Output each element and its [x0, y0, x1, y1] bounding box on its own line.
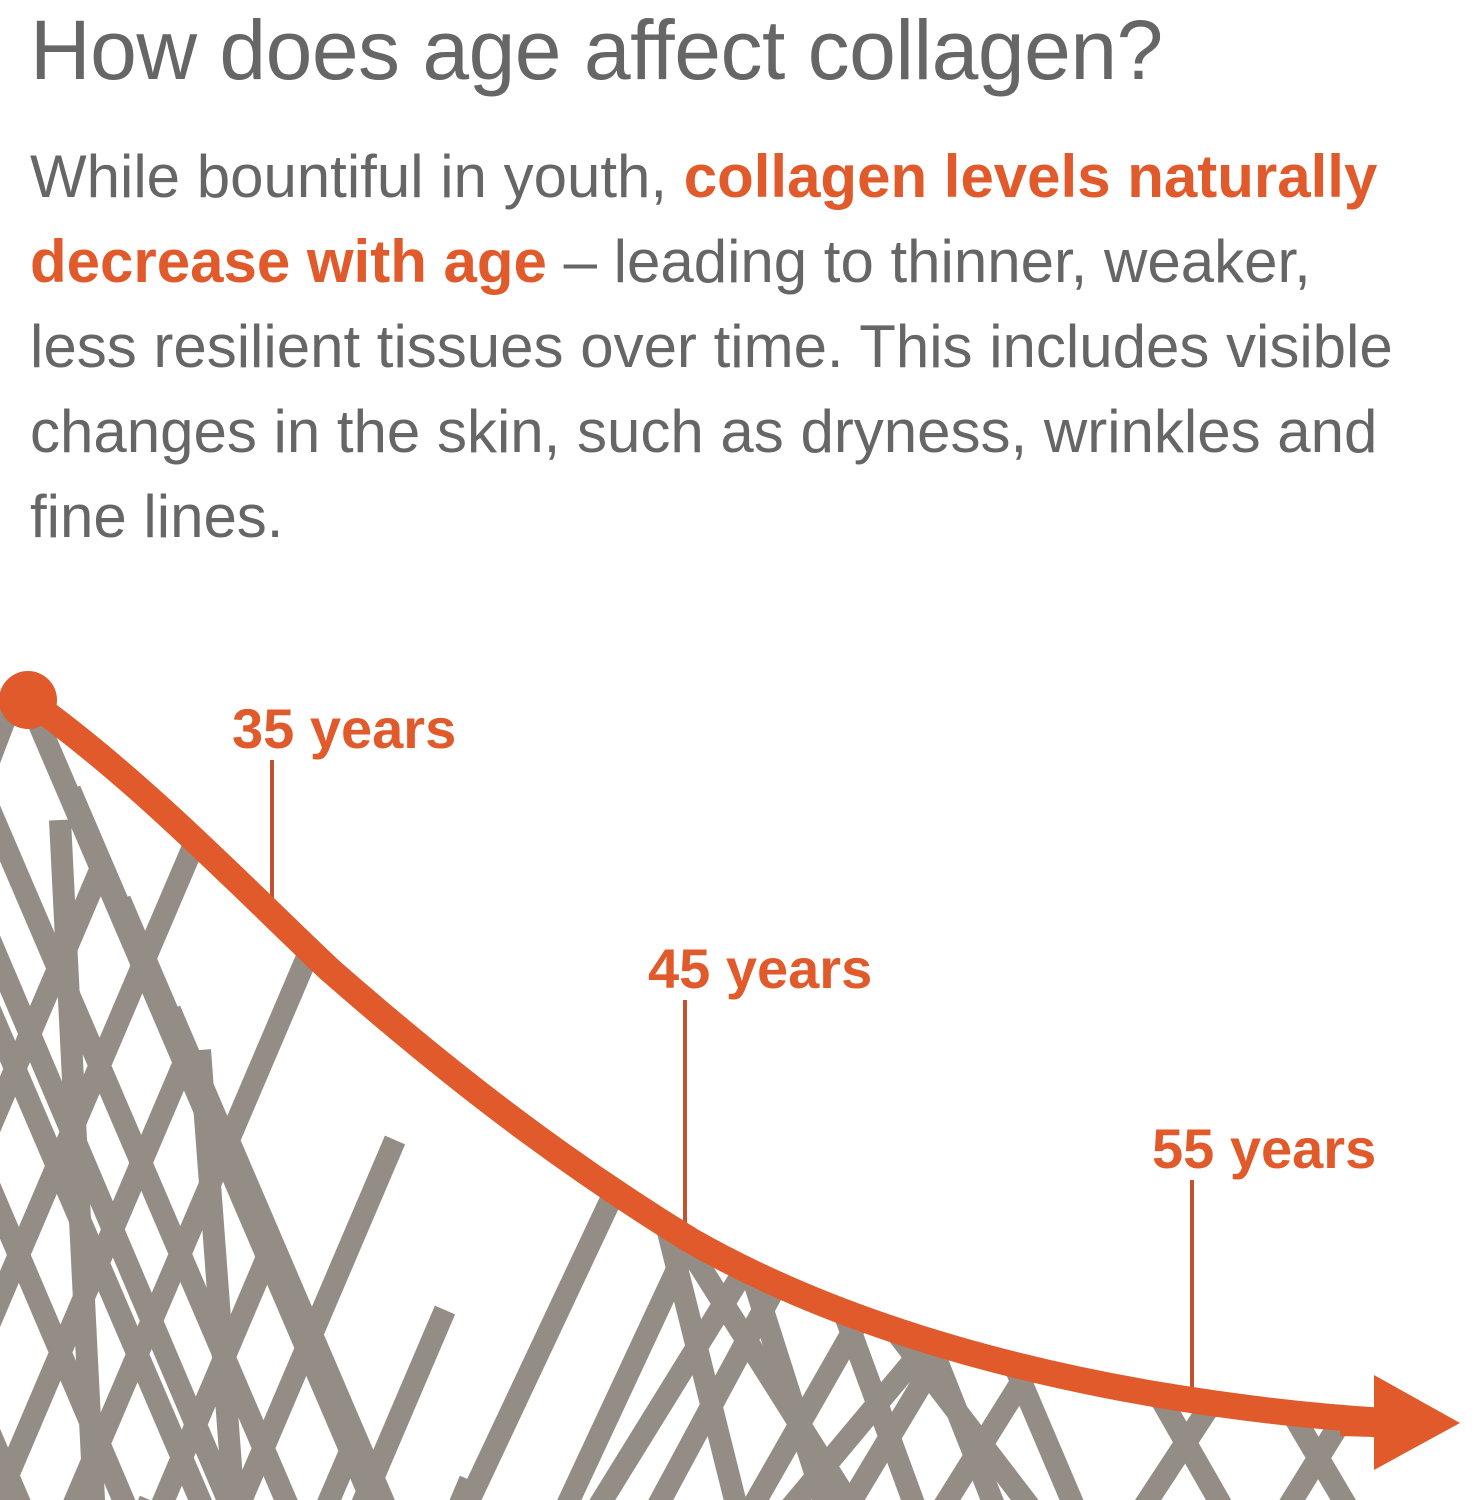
- intro-paragraph: While bountiful in youth, collagen level…: [30, 98, 1420, 559]
- age-label-55: 55 years: [1152, 1117, 1376, 1180]
- age-labels: 35 years 45 years 55 years: [232, 697, 1376, 1180]
- age-label-35: 35 years: [232, 697, 456, 760]
- collagen-decline-chart: 35 years 45 years 55 years: [0, 620, 1483, 1500]
- collagen-mesh: [0, 680, 1355, 1500]
- curve-arrowhead: [1340, 1375, 1460, 1470]
- intro-text-0: While bountiful in youth,: [30, 143, 684, 210]
- infographic-page: How does age affect collagen? While boun…: [0, 0, 1483, 1500]
- age-label-45: 45 years: [648, 937, 872, 1000]
- curve-start-dot: [0, 671, 57, 729]
- text-block: How does age affect collagen? While boun…: [30, 0, 1450, 559]
- page-title: How does age affect collagen?: [30, 0, 1450, 98]
